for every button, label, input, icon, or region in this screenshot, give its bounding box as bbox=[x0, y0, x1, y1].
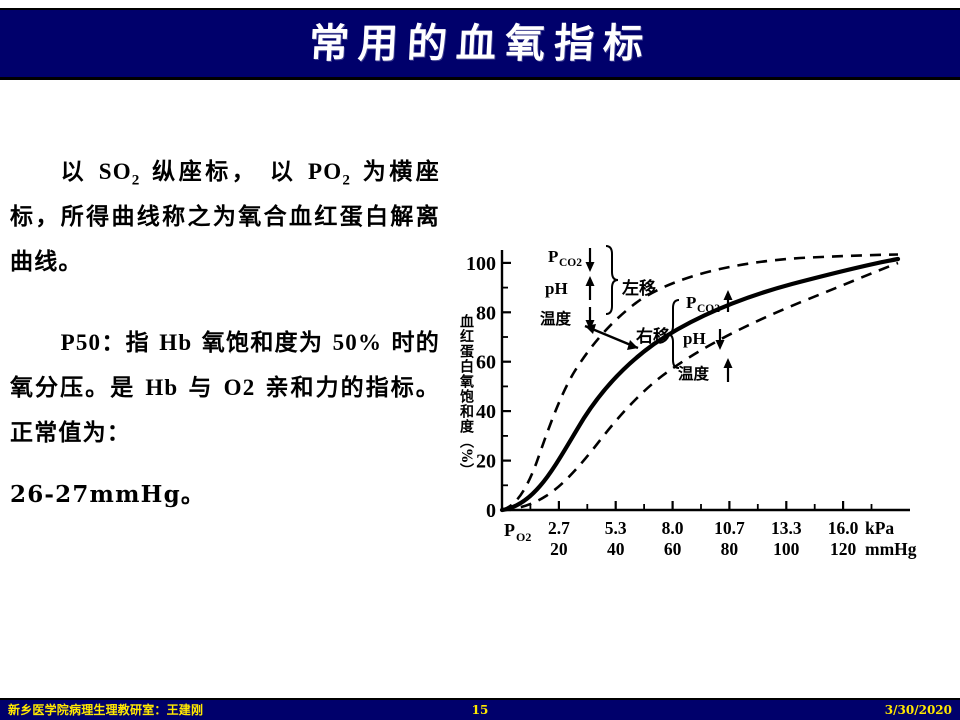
left-pco2-symbol: P bbox=[548, 247, 558, 266]
x-tick-kpa-4: 10.7 bbox=[714, 518, 745, 538]
so2-symbol: SO bbox=[99, 159, 132, 184]
p50-label: P50 bbox=[61, 330, 102, 355]
annotation-right-shift: 右移 P CO2 pH 温度 bbox=[636, 290, 733, 383]
x-tick-mmhg-3: 60 bbox=[664, 539, 682, 559]
right-pco2-subscript: CO2 bbox=[697, 303, 720, 315]
footer-date: 3/30/2020 bbox=[885, 703, 952, 718]
po2-subscript: 2 bbox=[342, 172, 351, 189]
hb-symbol: Hb bbox=[159, 330, 192, 355]
left-ph-symbol: pH bbox=[545, 279, 568, 298]
x-tick-mmhg-4: 80 bbox=[721, 539, 739, 559]
x-axis-unit-mmhg: mmHg bbox=[865, 539, 917, 559]
left-pco2-arrow-down-icon bbox=[586, 248, 595, 272]
x-tick-kpa-5: 13.3 bbox=[771, 518, 802, 538]
slide-footer-bar: 新乡医学院病理生理教研室：王建刚 15 3/30/2020 bbox=[0, 698, 960, 720]
footer-page-number: 15 bbox=[0, 703, 960, 718]
right-temperature-arrow-up-icon bbox=[724, 358, 733, 382]
y-tick-0: 0 bbox=[486, 500, 496, 522]
chart-svg: 0 20 40 60 80 100 2.7 bbox=[440, 214, 952, 566]
right-pco2-symbol: P bbox=[686, 293, 696, 312]
y-tick-20: 20 bbox=[476, 451, 496, 473]
x-tick-mmhg-6: 120 bbox=[830, 539, 857, 559]
y-axis-title: 血红蛋白氧饱和度（%） bbox=[458, 313, 475, 478]
left-shift-label: 左移 bbox=[622, 278, 656, 299]
y-tick-60: 60 bbox=[476, 352, 496, 374]
right-ph-symbol: pH bbox=[683, 329, 706, 348]
right-temperature-symbol: 温度 bbox=[678, 364, 710, 383]
left-temperature-symbol: 温度 bbox=[540, 309, 572, 328]
right-shift-label: 右移 bbox=[636, 326, 670, 347]
hb-symbol-2: Hb bbox=[145, 375, 178, 400]
paragraph-p50: P50：指 Hb 氧饱和度为 50% 时的氧分压。是 Hb 与 O2 亲和力的指… bbox=[10, 321, 440, 456]
x-axis-kpa-labels: 2.7 5.3 8.0 10.7 13.3 16.0 bbox=[548, 518, 859, 538]
po2-symbol: PO bbox=[308, 159, 342, 184]
right-ph-arrow-down-icon bbox=[716, 329, 725, 350]
slide-title-banner: 常用的血氧指标 bbox=[0, 8, 960, 80]
x-axis-origin-label: P bbox=[504, 520, 515, 540]
oxyhemoglobin-dissociation-curve-figure: 0 20 40 60 80 100 2.7 bbox=[440, 214, 952, 566]
page-title: 常用的血氧指标 bbox=[307, 24, 652, 64]
paragraph-normal-value: 26-27mmHg。 bbox=[10, 473, 440, 518]
text-fragment: 氧饱和度为 bbox=[192, 329, 332, 356]
paragraph-definition: 以 SO2 纵座标， 以 PO2 为横座标，所得曲线称之为氧合血红蛋白解离曲线。 bbox=[10, 150, 440, 285]
so2-subscript: 2 bbox=[132, 172, 141, 189]
text-fragment: 与 bbox=[178, 374, 223, 401]
x-tick-mmhg-2: 40 bbox=[607, 539, 625, 559]
left-shift-brace bbox=[606, 246, 618, 314]
text-fragment: ：指 bbox=[101, 329, 159, 356]
percent-value: 50% bbox=[333, 330, 383, 355]
y-tick-80: 80 bbox=[476, 302, 496, 324]
left-pco2-subscript: CO2 bbox=[559, 257, 582, 269]
y-tick-100: 100 bbox=[466, 253, 496, 275]
x-tick-mmhg-5: 100 bbox=[773, 539, 800, 559]
x-tick-kpa-6: 16.0 bbox=[828, 518, 859, 538]
y-tick-40: 40 bbox=[476, 401, 496, 423]
annotation-left-shift: P CO2 pH 温度 左移 bbox=[540, 246, 656, 330]
text-fragment: 以 bbox=[61, 158, 99, 185]
x-axis-origin-subscript: O2 bbox=[516, 530, 531, 544]
slide-body-text: 以 SO2 纵座标， 以 PO2 为横座标，所得曲线称之为氧合血红蛋白解离曲线。… bbox=[10, 150, 440, 536]
x-tick-kpa-1: 2.7 bbox=[548, 518, 570, 538]
x-tick-kpa-3: 8.0 bbox=[662, 518, 684, 538]
x-tick-mmhg-1: 20 bbox=[550, 539, 568, 559]
x-axis-unit-kpa: kPa bbox=[865, 518, 894, 538]
text-fragment: 纵座标， 以 bbox=[141, 158, 308, 185]
x-axis-mmhg-labels: 20 40 60 80 100 120 bbox=[550, 539, 856, 559]
o2-symbol: O2 bbox=[224, 375, 256, 400]
curve-right-shift bbox=[502, 263, 898, 510]
x-tick-kpa-2: 5.3 bbox=[605, 518, 627, 538]
left-ph-arrow-up-icon bbox=[586, 276, 595, 300]
